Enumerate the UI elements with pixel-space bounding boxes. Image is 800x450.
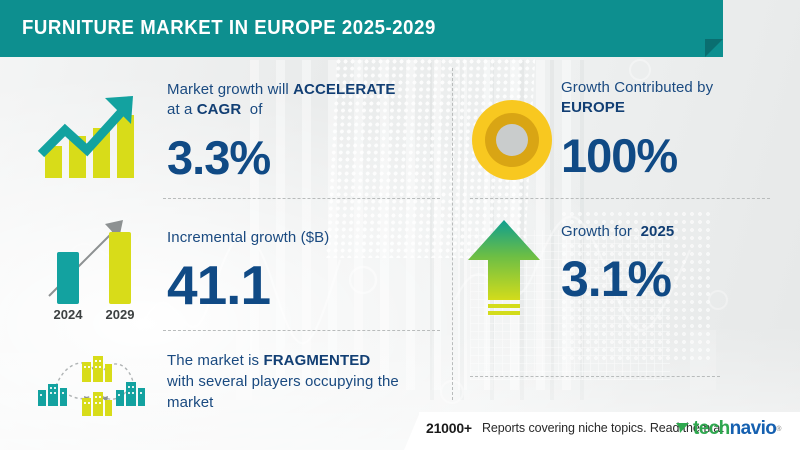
stat-cagr-value: 3.3% [167, 134, 437, 181]
technavio-arrow-icon [675, 419, 691, 440]
stat-region-contribution-label: Growth Contributed byEUROPE [561, 78, 796, 118]
donut-ring-icon [470, 98, 554, 187]
page-title: FURNITURE MARKET IN EUROPE 2025-2029 [22, 17, 436, 40]
upward-arrow-icon [466, 218, 542, 325]
stat-yearly-growth-label: Growth for 2025 [561, 222, 796, 242]
stat-incremental-growth-text: Incremental growth ($B) 41.1 [167, 228, 437, 313]
technavio-logo-navio: navio [730, 418, 777, 440]
infographic-canvas: FURNITURE MARKET IN EUROPE 2025-2029 Mar… [0, 0, 800, 450]
svg-text:2029: 2029 [106, 307, 135, 322]
stat-cagr-text: Market growth will ACCELERATEat a CAGR o… [167, 80, 437, 181]
two-bar-comparison-icon: 2024 2029 [33, 212, 149, 329]
technavio-logo[interactable]: tech navio ® [675, 418, 781, 440]
stat-yearly-growth-value: 3.1% [561, 254, 796, 304]
footer-report-count: 21000+ [426, 420, 472, 436]
header-fold-corner [705, 39, 723, 57]
divider-left-lower [163, 330, 440, 331]
stat-region-contribution-value: 100% [561, 132, 796, 179]
divider-vertical-center [452, 68, 453, 400]
stat-incremental-growth-label: Incremental growth ($B) [167, 228, 437, 248]
stat-market-fragmentation-label: The market is FRAGMENTEDwith several pla… [167, 350, 447, 413]
technavio-logo-registered: ® [776, 426, 781, 433]
stat-market-fragmentation-text: The market is FRAGMENTEDwith several pla… [167, 350, 447, 413]
stat-cagr-label: Market growth will ACCELERATEat a CAGR o… [167, 80, 437, 120]
city-clusters-network-icon [30, 348, 152, 425]
technavio-logo-tech: tech [693, 418, 730, 440]
divider-right-upper [470, 198, 770, 199]
header-banner: FURNITURE MARKET IN EUROPE 2025-2029 [0, 0, 723, 57]
footer-angled-edge [404, 412, 420, 450]
stat-incremental-growth-value: 41.1 [167, 258, 437, 313]
growth-bar-chart-arrow-icon [35, 88, 147, 189]
svg-text:2024: 2024 [54, 307, 84, 322]
stat-yearly-growth-text: Growth for 2025 3.1% [561, 222, 796, 304]
divider-right-lower [470, 376, 720, 377]
divider-left-upper [163, 198, 440, 199]
stat-region-contribution-text: Growth Contributed byEUROPE 100% [561, 78, 796, 179]
